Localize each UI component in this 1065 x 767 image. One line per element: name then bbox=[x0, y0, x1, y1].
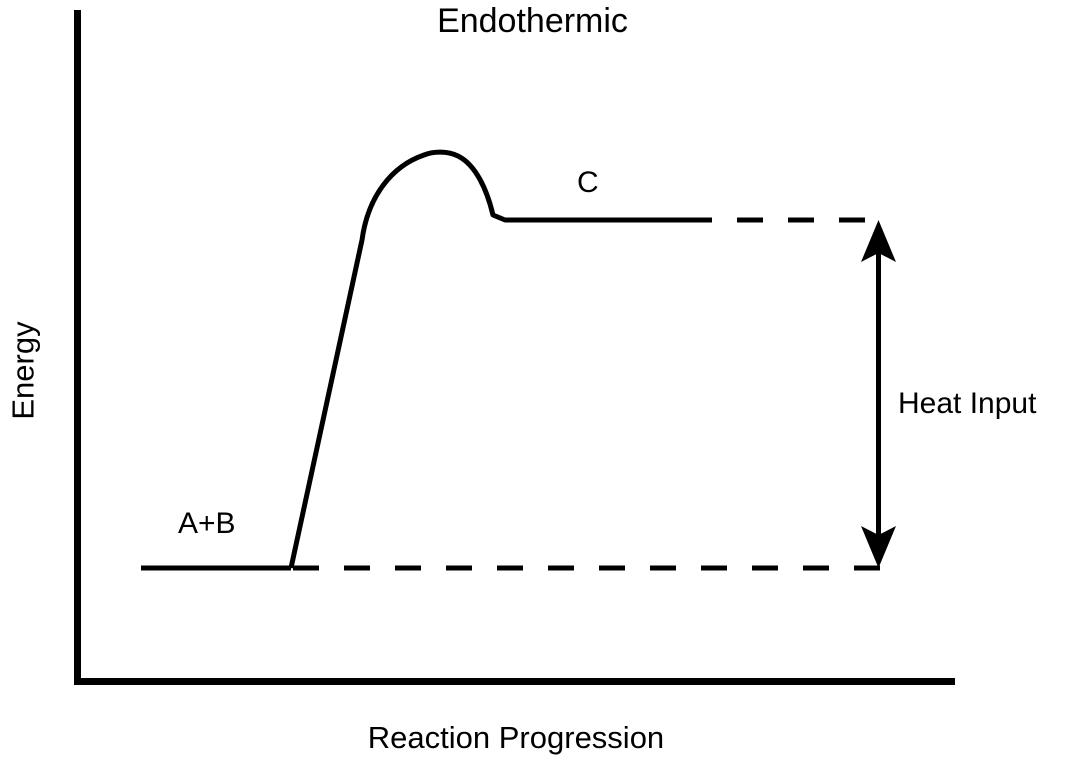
y-axis-label: Energy bbox=[8, 311, 39, 431]
reactant-level-label: A+B bbox=[178, 509, 236, 539]
product-level-label: C bbox=[577, 168, 599, 198]
axis-group bbox=[74, 10, 955, 684]
heat-input-arrow bbox=[861, 220, 896, 568]
x-axis-label: Reaction Progression bbox=[77, 722, 955, 753]
energy-diagram-figure: Endothermic Reaction Progression Energy … bbox=[0, 0, 1065, 767]
chart-title: Endothermic bbox=[0, 4, 1065, 38]
reaction-pathway-curve bbox=[291, 152, 686, 568]
reaction-coordinate-plot bbox=[0, 0, 1065, 767]
heat-input-label: Heat Input bbox=[898, 389, 1036, 419]
